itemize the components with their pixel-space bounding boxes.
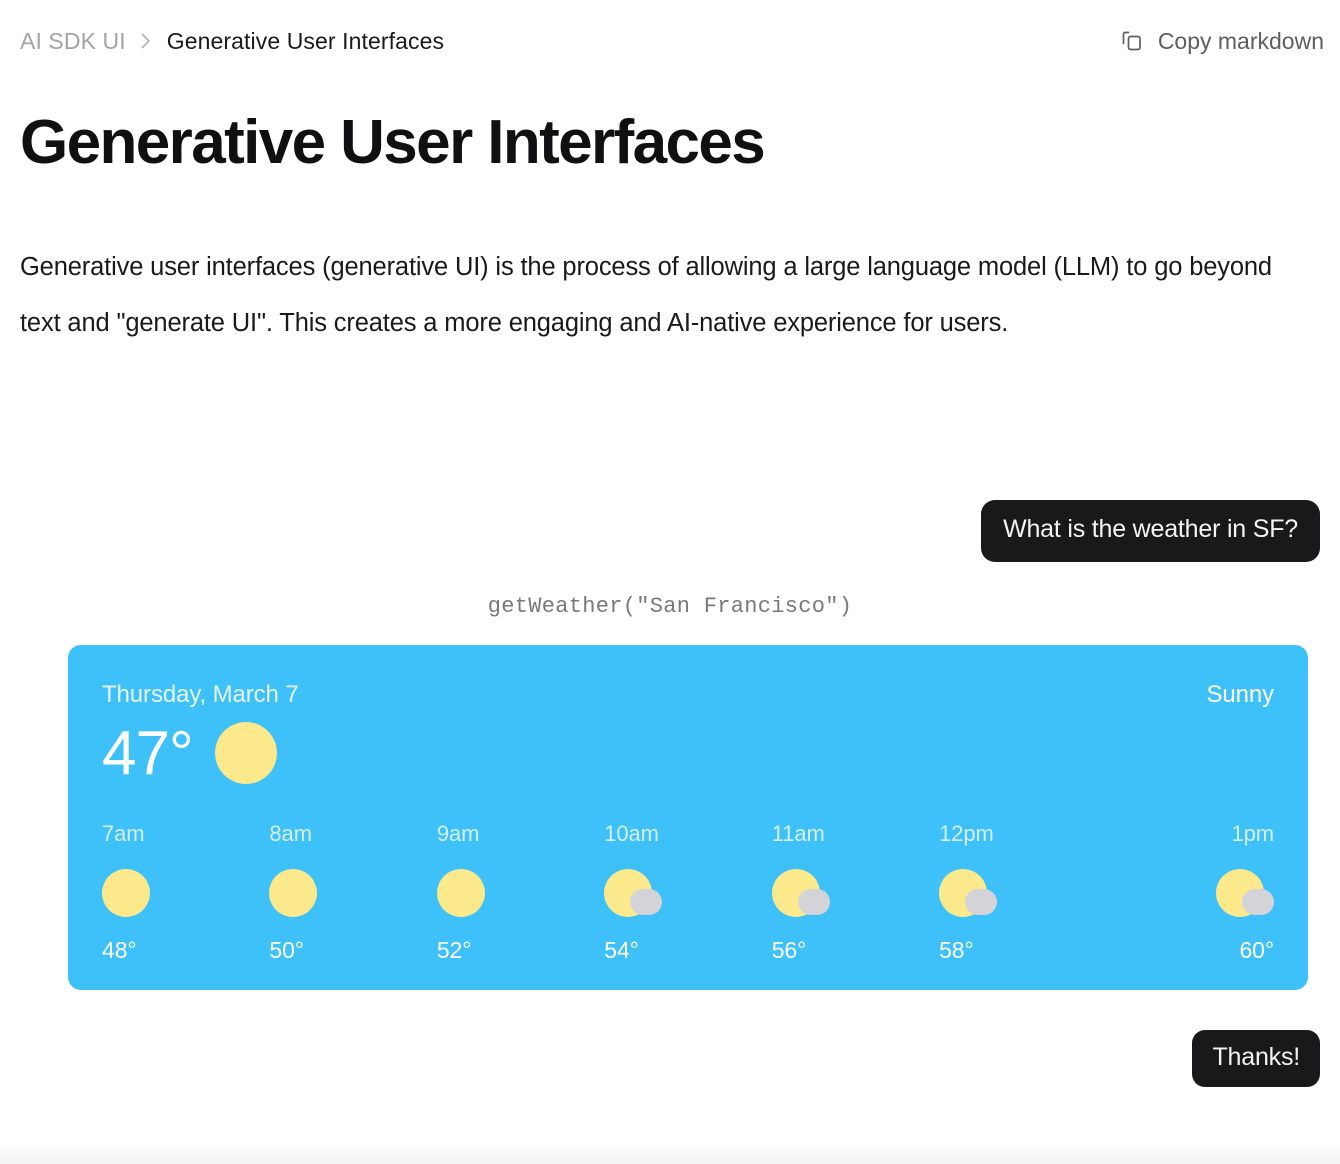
breadcrumb-root[interactable]: AI SDK UI — [20, 30, 126, 53]
weather-current-temp: 47° — [102, 721, 193, 786]
page-title: Generative User Interfaces — [20, 108, 1320, 177]
hour-label: 10am — [604, 823, 659, 845]
intro-paragraph: Generative user interfaces (generative U… — [20, 239, 1292, 351]
sun-icon — [437, 869, 495, 917]
hour-label: 11am — [772, 823, 825, 845]
hour-column: 11am 56° — [772, 823, 939, 962]
article: Generative User Interfaces Generative us… — [20, 108, 1320, 351]
weather-current: 47° — [102, 721, 1274, 786]
final-message-bubble: Thanks! — [1192, 1030, 1320, 1088]
hour-column: 9am 52° — [437, 823, 604, 962]
hour-label: 9am — [437, 823, 480, 845]
chat-demo: What is the weather in SF? getWeather("S… — [20, 500, 1320, 1087]
breadcrumb-current: Generative User Interfaces — [167, 30, 444, 53]
weather-card-header: Thursday, March 7 Sunny — [102, 683, 1274, 707]
sun-icon — [269, 869, 327, 917]
hour-label: 7am — [102, 823, 145, 845]
sun-cloud-icon — [604, 869, 662, 917]
hour-column: 10am 54° — [604, 823, 771, 962]
hour-temp: 56° — [772, 939, 806, 962]
hour-label: 12pm — [939, 823, 994, 845]
sun-cloud-icon — [939, 869, 997, 917]
hour-temp: 58° — [939, 939, 973, 962]
breadcrumb: AI SDK UI Generative User Interfaces — [20, 30, 444, 53]
bottom-fade — [0, 1142, 1340, 1164]
top-bar: AI SDK UI Generative User Interfaces Cop… — [0, 0, 1340, 82]
user-message-row: What is the weather in SF? — [20, 500, 1320, 562]
sun-icon — [102, 869, 160, 917]
tool-call-text: getWeather("San Francisco") — [20, 594, 1320, 619]
hourly-forecast: 7am 48° 8am 50° 9am 52° 10am 54° — [102, 823, 1274, 962]
sun-cloud-icon — [772, 869, 830, 917]
copy-markdown-label: Copy markdown — [1158, 28, 1324, 55]
hour-label: 8am — [269, 823, 312, 845]
hour-column: 7am 48° — [102, 823, 269, 962]
copy-icon — [1120, 29, 1144, 53]
chevron-right-icon — [140, 31, 153, 51]
docs-page: AI SDK UI Generative User Interfaces Cop… — [0, 0, 1340, 1164]
hour-temp: 50° — [269, 939, 303, 962]
hour-column: 8am 50° — [269, 823, 436, 962]
sun-cloud-icon — [1216, 869, 1274, 917]
final-message-row: Thanks! — [20, 1030, 1320, 1088]
hour-label: 1pm — [1231, 823, 1274, 845]
hour-column: 1pm 60° — [1107, 823, 1274, 962]
hour-temp: 52° — [437, 939, 471, 962]
hour-temp: 48° — [102, 939, 136, 962]
hour-temp: 60° — [1239, 939, 1273, 962]
hour-temp: 54° — [604, 939, 638, 962]
sun-icon — [215, 722, 277, 784]
weather-card: Thursday, March 7 Sunny 47° 7am 48° 8am … — [68, 645, 1308, 990]
weather-date: Thursday, March 7 — [102, 683, 299, 707]
weather-condition: Sunny — [1206, 683, 1274, 707]
user-message-bubble: What is the weather in SF? — [981, 500, 1320, 562]
copy-markdown-button[interactable]: Copy markdown — [1118, 24, 1326, 59]
hour-column: 12pm 58° — [939, 823, 1106, 962]
